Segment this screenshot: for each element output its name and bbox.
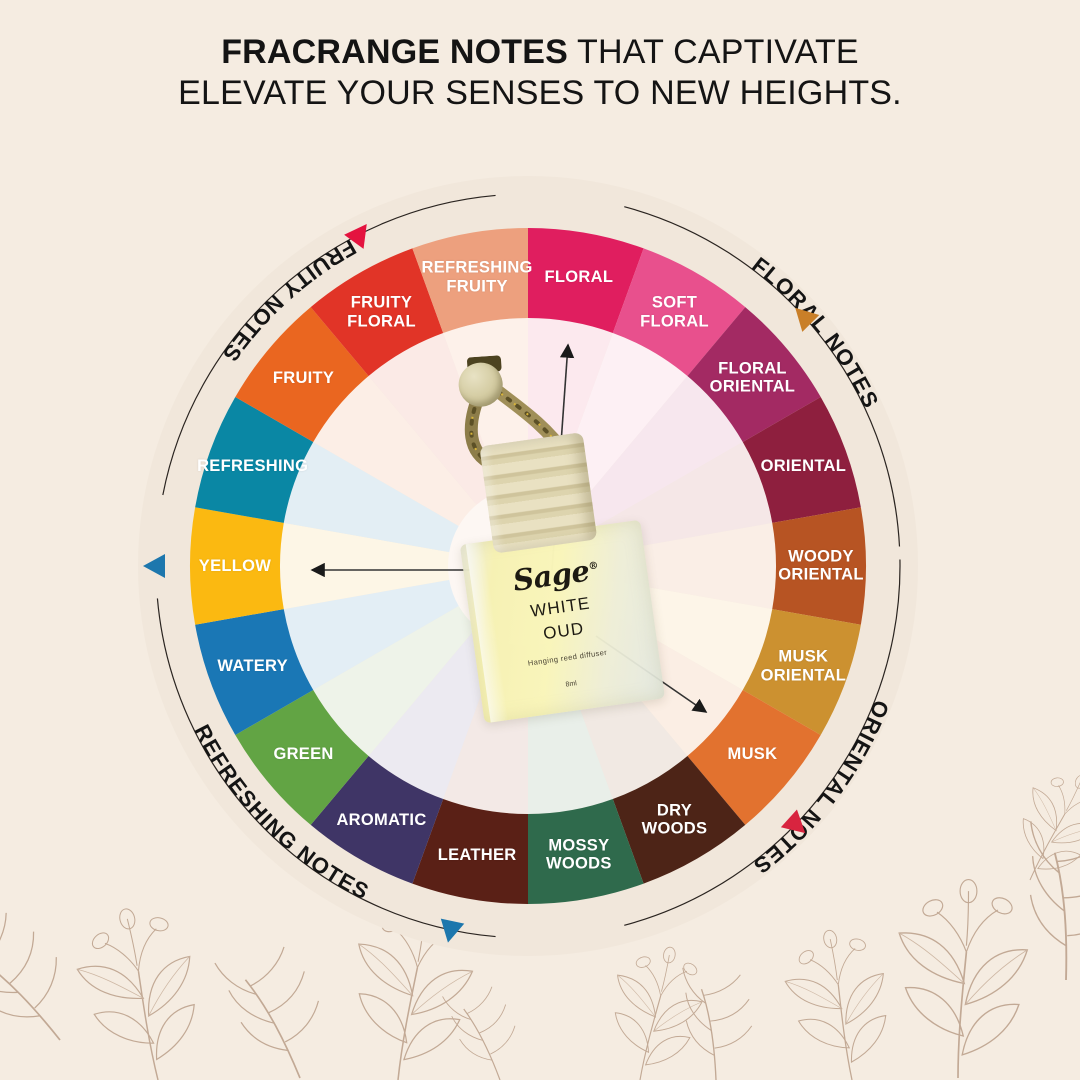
wooden-cap xyxy=(479,432,597,553)
infographic-canvas: FRACRANGE NOTES THAT CAPTIVATE ELEVATE Y… xyxy=(0,0,1080,1080)
bottle-body: Sage® WHITE OUD Hanging reed diffuser 8m… xyxy=(460,520,665,724)
wheel-segment[interactable] xyxy=(772,507,866,624)
product-bottle: Sage® WHITE OUD Hanging reed diffuser 8m… xyxy=(419,343,696,749)
brand-trademark: ® xyxy=(588,560,599,572)
product-volume: 8ml xyxy=(481,668,662,700)
wheel-segment[interactable] xyxy=(190,507,284,624)
brand-name: Sage xyxy=(511,553,591,597)
